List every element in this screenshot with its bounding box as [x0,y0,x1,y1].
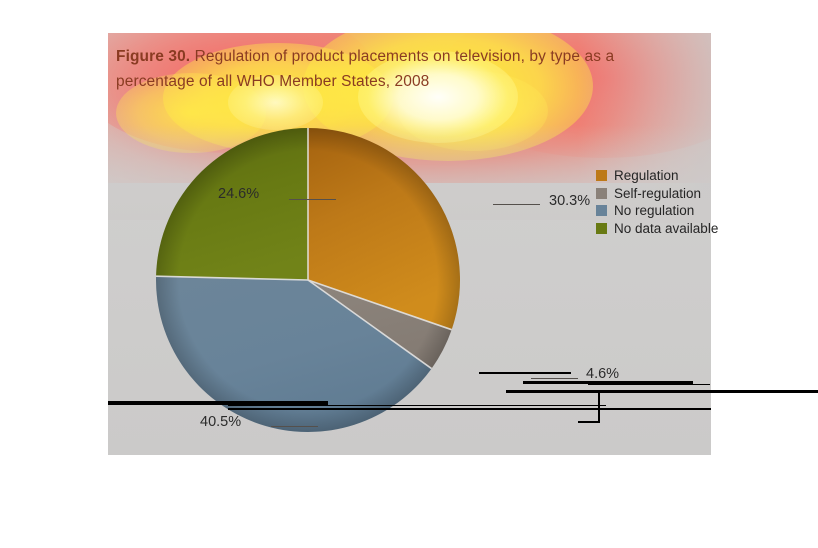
artifact-line-3 [228,408,711,410]
pie-chart [148,120,468,440]
data-label-no-data-available: 24.6% [218,186,259,202]
artifact-line-4 [479,372,571,374]
legend-swatch-regulation [596,170,607,181]
leader-line-self-regulation [531,378,578,379]
figure-number: Figure 30. [116,48,190,65]
artifact-line-2 [228,405,606,406]
leader-line-regulation [493,204,540,205]
leader-line-no-regulation [271,426,318,427]
figure-title-text: Regulation of product placements on tele… [116,48,619,90]
legend-item-no-data-available[interactable]: No data available [596,220,718,238]
data-label-no-regulation: 40.5% [200,414,241,430]
data-label-regulation: 30.3% [549,193,590,209]
legend-swatch-no-regulation [596,205,607,216]
legend-swatch-self-regulation [596,188,607,199]
legend-label-no-data-available: No data available [614,221,718,236]
legend-item-no-regulation[interactable]: No regulation [596,202,718,220]
legend-label-regulation: Regulation [614,168,679,183]
legend-item-self-regulation[interactable]: Self-regulation [596,185,718,203]
artifact-line-9 [578,421,600,423]
legend-swatch-no-data-available [596,223,607,234]
artifact-line-8 [598,391,600,423]
artifact-line-7 [506,390,711,393]
artifact-line-6 [588,384,710,385]
legend: Regulation Self-regulation No regulation… [596,167,718,237]
data-label-self-regulation: 4.6% [586,366,619,382]
figure-title: Figure 30. Regulation of product placeme… [116,44,696,94]
figure-panel: Figure 30. Regulation of product placeme… [108,33,711,455]
legend-label-self-regulation: Self-regulation [614,186,701,201]
legend-item-regulation[interactable]: Regulation [596,167,718,185]
artifact-line-overflow [711,390,818,393]
legend-label-no-regulation: No regulation [614,203,694,218]
pie-slices [156,128,460,432]
leader-line-no-data-available [289,199,336,200]
